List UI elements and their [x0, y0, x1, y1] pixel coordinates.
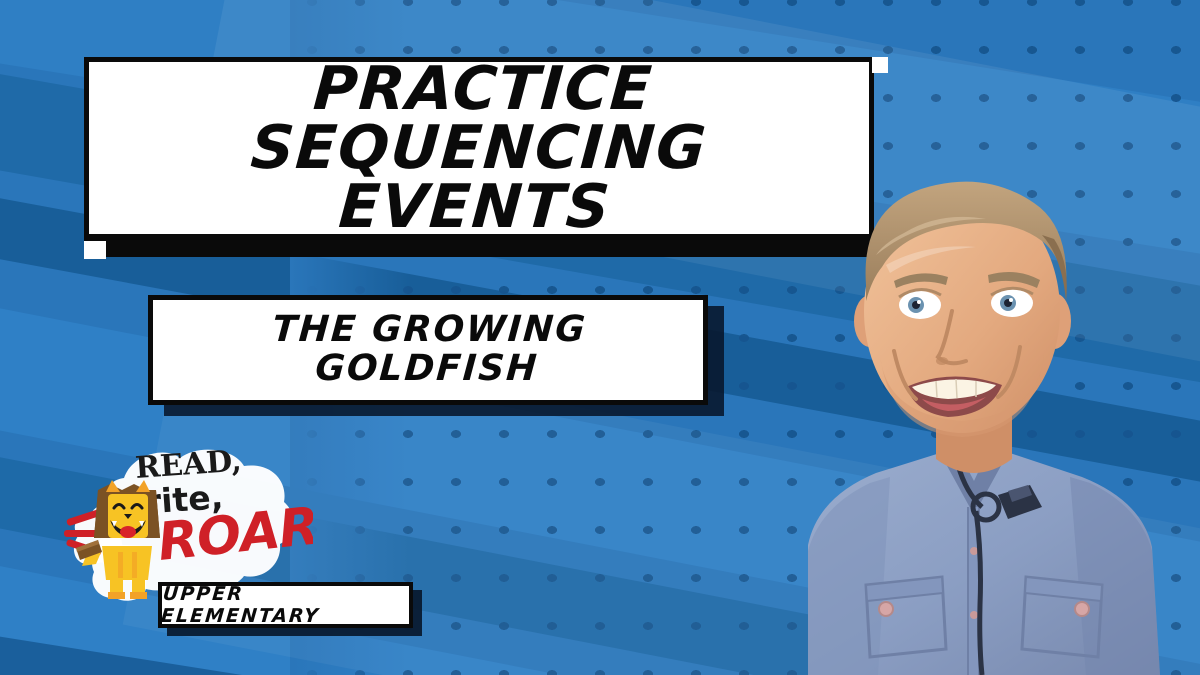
title-card-corner-notch	[84, 241, 106, 259]
subtitle-card: The Growing Goldfish	[148, 295, 708, 405]
slide-canvas: Practice Sequencing Events The Growing G…	[0, 0, 1200, 675]
subtitle-line-2: Goldfish	[268, 350, 585, 389]
grade-badge-label: Upper Elementary	[160, 583, 411, 627]
grade-badge: Upper Elementary	[158, 582, 413, 628]
read-write-roar-logo: ROAR! READ, Write,	[48, 440, 313, 605]
host-shirt	[808, 447, 1160, 675]
subtitle-line-1: The Growing	[271, 311, 588, 350]
title-card-corner-notch	[872, 57, 888, 73]
host-portrait	[690, 115, 1200, 675]
page-subtitle: The Growing Goldfish	[268, 311, 588, 389]
